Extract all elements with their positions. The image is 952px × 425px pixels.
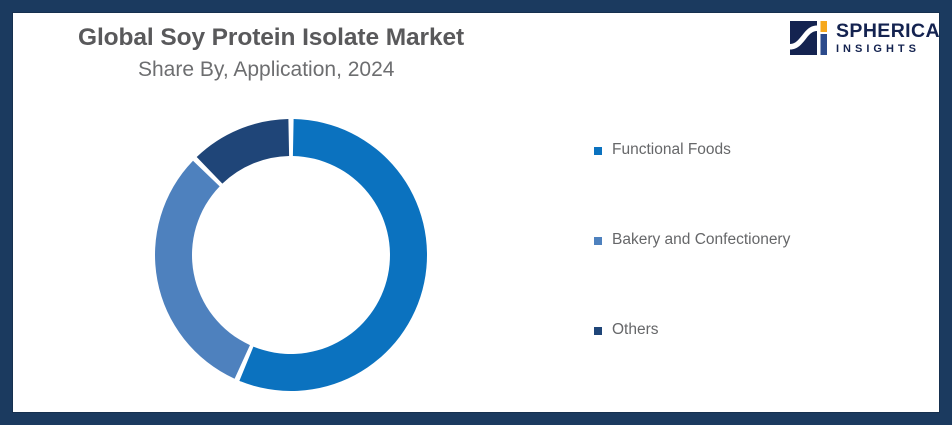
legend-item[interactable]: Functional Foods [594, 130, 874, 170]
donut-slice[interactable] [155, 161, 250, 379]
legend-item[interactable]: Others [594, 310, 874, 350]
legend-swatch-icon [594, 147, 602, 155]
legend-item-label: Functional Foods [612, 141, 731, 159]
donut-slice[interactable] [197, 119, 289, 184]
page-title: Global Soy Protein Isolate Market [78, 24, 548, 53]
legend-swatch-icon [594, 327, 602, 335]
chart-figure: Global Soy Protein Isolate Market Share … [0, 0, 952, 425]
spherical-insights-logo-icon [790, 18, 830, 58]
title-block: Global Soy Protein Isolate Market Share … [78, 24, 548, 82]
donut-slice[interactable] [239, 119, 427, 391]
chart-subtitle: Share By, Application, 2024 [78, 57, 548, 82]
legend-swatch-icon [594, 237, 602, 245]
logo-name: SPHERICAL [836, 22, 952, 42]
chart-legend: Functional Foods Bakery and Confectioner… [594, 130, 874, 350]
legend-item[interactable]: Bakery and Confectionery [594, 220, 874, 260]
legend-item-label: Bakery and Confectionery [612, 231, 790, 249]
logo-wordmark: SPHERICAL INSIGHTS [836, 21, 952, 56]
legend-item-label: Others [612, 321, 659, 339]
logo-tagline: INSIGHTS [836, 44, 952, 55]
brand-logo: SPHERICAL INSIGHTS [790, 12, 933, 64]
